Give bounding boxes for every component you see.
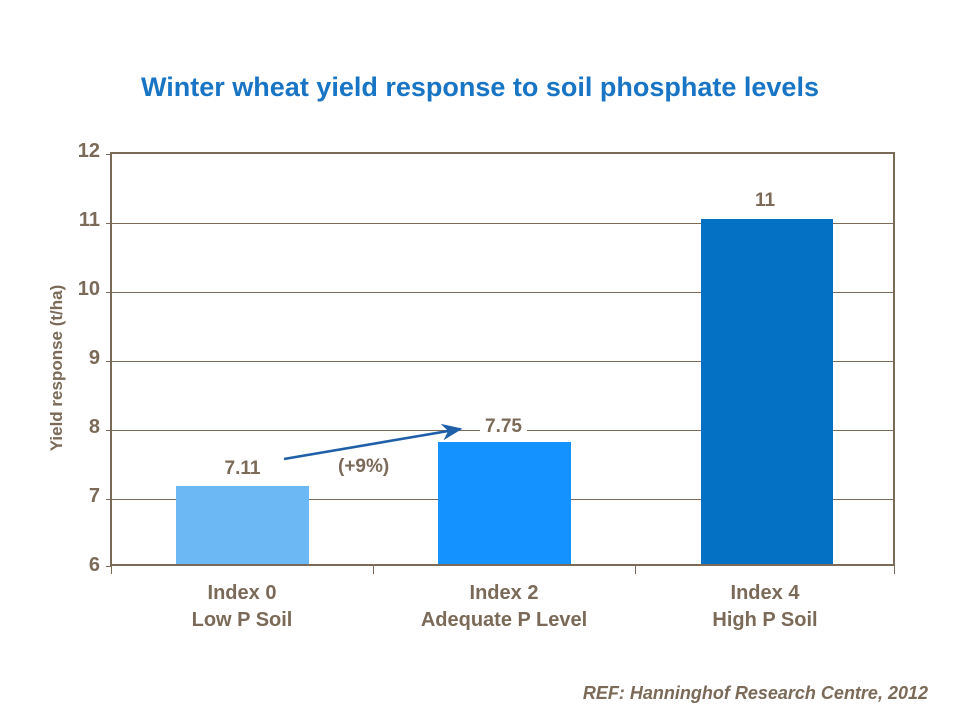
- y-tick-label-7: 7: [56, 485, 100, 508]
- bar-value-label-index-4: 11: [699, 190, 831, 212]
- y-tick-label-8: 8: [56, 416, 100, 439]
- y-tick-mark-8: [106, 430, 112, 431]
- source-reference: REF: Hanninghof Research Centre, 2012: [583, 683, 928, 704]
- x-tick-left-edge: [111, 566, 112, 574]
- chart-container: Winter wheat yield response to soil phos…: [0, 0, 960, 720]
- x-axis-label-index-4-line2: High P Soil: [635, 607, 895, 634]
- x-axis-label-index-4: Index 4 High P Soil: [635, 580, 895, 634]
- y-tick-label-12: 12: [56, 140, 100, 163]
- trend-arrow-icon: [270, 415, 490, 475]
- x-axis-label-index-0-line1: Index 0: [111, 580, 373, 607]
- x-axis-label-index-4-line1: Index 4: [635, 580, 895, 607]
- bar-index-4[interactable]: [701, 219, 833, 564]
- x-tick-1: [373, 566, 374, 574]
- x-axis-label-index-0-line2: Low P Soil: [111, 607, 373, 634]
- x-axis-label-index-2-line2: Adequate P Level: [373, 607, 635, 634]
- x-axis-label-index-0: Index 0 Low P Soil: [111, 580, 373, 634]
- y-tick-label-11: 11: [56, 209, 100, 232]
- y-tick-mark-10: [106, 292, 112, 293]
- x-axis-label-index-2: Index 2 Adequate P Level: [373, 580, 635, 634]
- y-tick-mark-11: [106, 223, 112, 224]
- y-tick-label-6: 6: [56, 554, 100, 577]
- x-axis-label-index-2-line1: Index 2: [373, 580, 635, 607]
- bar-index-0[interactable]: [176, 486, 309, 564]
- y-tick-label-9: 9: [56, 347, 100, 370]
- x-tick-right-edge: [894, 566, 895, 574]
- y-tick-mark-12: [106, 154, 112, 155]
- y-tick-mark-7: [106, 499, 112, 500]
- y-tick-label-10: 10: [56, 278, 100, 301]
- plot-area: [110, 152, 895, 566]
- y-tick-mark-9: [106, 361, 112, 362]
- chart-title: Winter wheat yield response to soil phos…: [0, 72, 960, 103]
- x-tick-2: [635, 566, 636, 574]
